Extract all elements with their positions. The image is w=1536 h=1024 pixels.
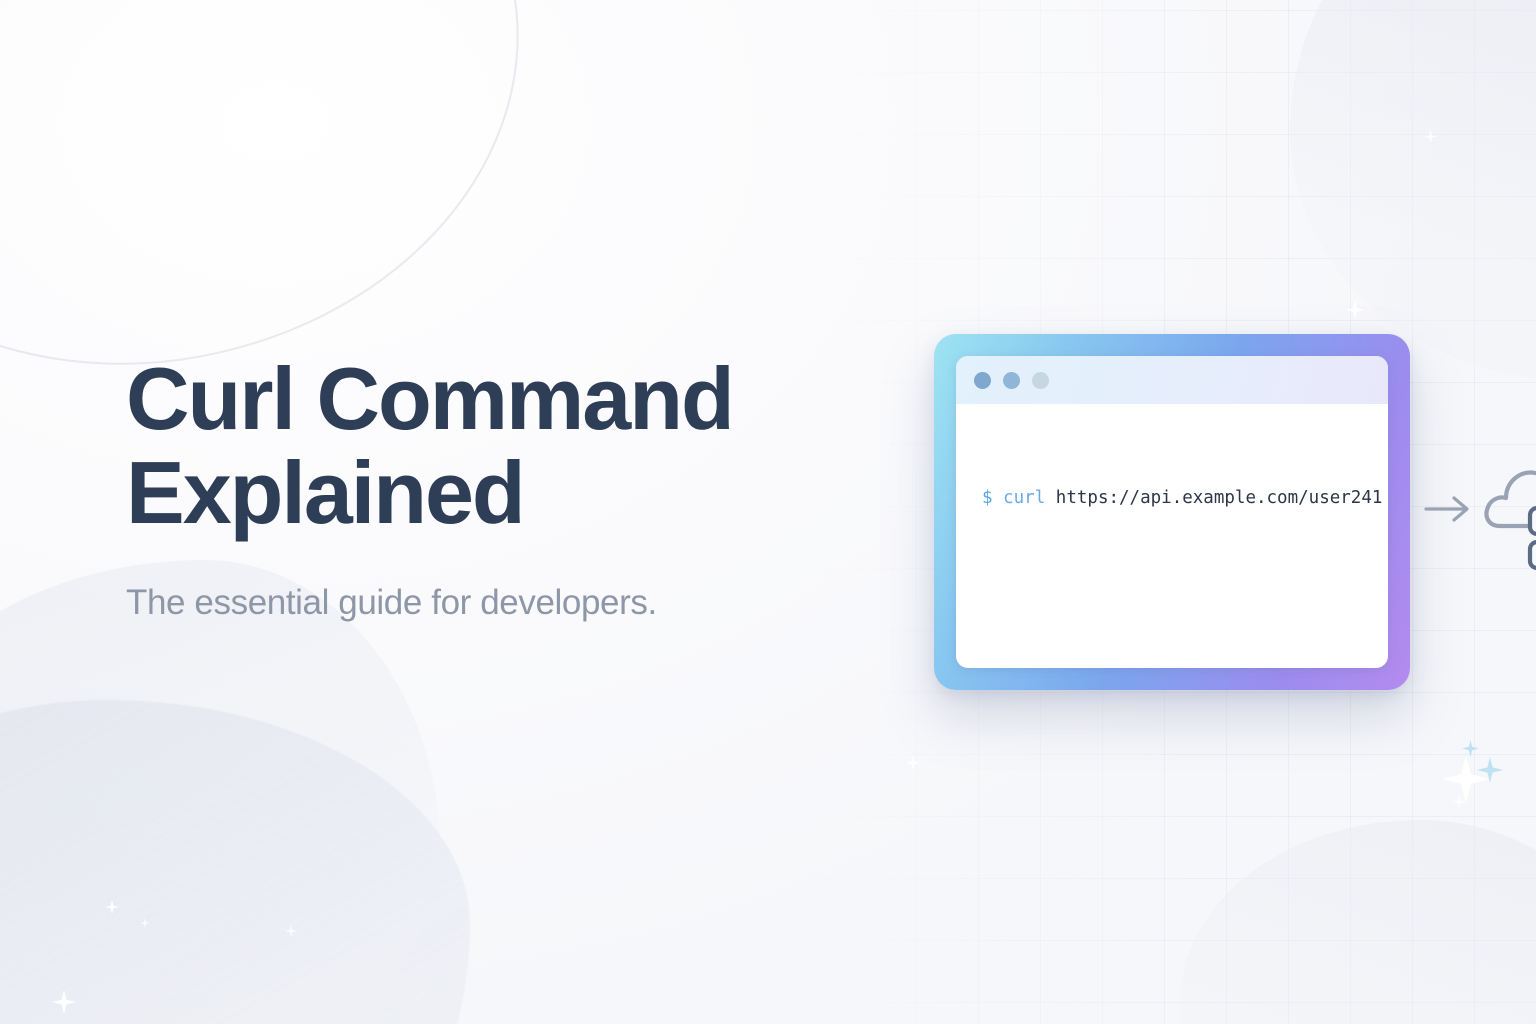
code-window: $ curl https://api.example.com/user241 {… — [956, 356, 1388, 668]
sparkle-icon — [140, 918, 150, 928]
sparkle-icon — [1462, 740, 1479, 757]
sparkle-icon — [52, 990, 76, 1014]
terminal-output: $ curl https://api.example.com/user241 {… — [956, 404, 1388, 668]
sparkle-icon — [1442, 755, 1490, 803]
hero-banner: Curl Command Explained The essential gui… — [0, 0, 1536, 1024]
blob-bottom-left-secondary — [0, 560, 440, 1024]
page-title: Curl Command Explained — [126, 352, 886, 540]
blob-top-right — [1290, 0, 1536, 380]
command-url: https://api.example.com/user241 — [1056, 488, 1383, 508]
blob-bottom-left — [0, 700, 470, 1024]
page-subtitle: The essential guide for developers. — [126, 540, 886, 624]
hero-copy: Curl Command Explained The essential gui… — [126, 352, 886, 624]
cloud-server-icon — [1482, 452, 1536, 582]
sparkle-icon — [285, 925, 297, 937]
spacer-line — [982, 596, 1388, 618]
sparkle-icon — [1452, 795, 1466, 809]
shell-prompt: $ — [982, 488, 993, 508]
code-window-titlebar — [956, 356, 1388, 404]
window-maximize-dot-icon[interactable] — [1032, 372, 1049, 389]
window-close-dot-icon[interactable] — [974, 372, 991, 389]
code-window-frame: $ curl https://api.example.com/user241 {… — [934, 334, 1410, 690]
sparkle-icon — [905, 755, 921, 771]
sparkle-icon — [1477, 757, 1503, 783]
window-minimize-dot-icon[interactable] — [1003, 372, 1020, 389]
command-name: curl — [1003, 488, 1045, 508]
blob-bottom-right — [1180, 820, 1536, 1024]
terminal-command-line: $ curl https://api.example.com/user241 — [982, 484, 1388, 512]
arrow-right-icon — [1424, 492, 1476, 526]
sparkle-icon — [1345, 300, 1365, 320]
sparkle-icon — [1424, 130, 1437, 143]
sparkle-icon — [105, 900, 119, 914]
